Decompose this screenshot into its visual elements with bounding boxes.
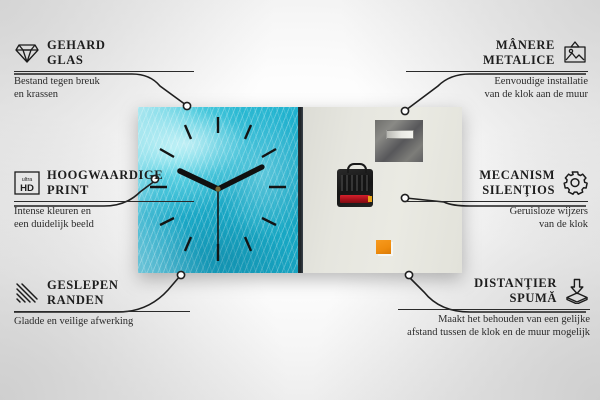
callout-rule [14,311,190,312]
callout-high-quality-print: ultra HD HOOGWAARDIGE PRINT Intense kleu… [14,168,194,231]
callout-description: Bestand tegen breuk en krassen [14,75,194,102]
callout-description: Gladde en veilige afwerking [14,315,190,328]
callout-tempered-glass: GEHARD GLAS Bestand tegen breuk en krass… [14,38,194,101]
callout-title: GEHARD GLAS [14,38,194,68]
callout-rule [406,201,588,202]
gear-icon [562,170,588,196]
callout-title: MÂNERE METALICE [406,38,588,68]
callout-title: DISTANŢIER SPUMĂ [398,276,590,306]
callout-title-text: MECANISM SILENŢIOS [479,168,555,198]
callout-title-text: GESLEPEN RANDEN [47,278,119,308]
callout-title: MECANISM SILENŢIOS [406,168,588,198]
battery [340,195,370,203]
callout-rule [398,309,590,310]
callout-foam-spacer: DISTANŢIER SPUMĂ Maakt het behouden van … [398,276,590,339]
callout-title: ultra HD HOOGWAARDIGE PRINT [14,168,194,198]
product-infographic: GEHARD GLAS Bestand tegen breuk en krass… [0,0,600,400]
callout-description: Intense kleuren en een duidelijk beeld [14,205,194,232]
callout-description: Eenvoudige installatie van de klok aan d… [406,75,588,102]
callout-description: Geruisloze wijzers van de klok [406,205,588,232]
metal-hanger-plate [375,120,423,162]
callout-title: GESLEPEN RANDEN [14,278,190,308]
callout-silent-mechanism: MECANISM SILENŢIOS Geruisloze wijzers va… [406,168,588,231]
callout-rule [14,201,194,202]
callout-metal-hangers: MÂNERE METALICE Eenvoudige installatie v… [406,38,588,101]
callout-title-text: MÂNERE METALICE [483,38,555,68]
hanger-slot [386,130,414,139]
diamond-icon [14,40,40,66]
press-down-layer-icon [564,278,590,304]
callout-beveled-edges: GESLEPEN RANDEN Gladde en veilige afwerk… [14,278,190,328]
callout-description: Maakt het behouden van een gelijke afsta… [398,313,590,340]
callout-title-text: GEHARD GLAS [47,38,105,68]
ultra-hd-icon: ultra HD [14,170,40,196]
callout-rule [406,71,588,72]
picture-frame-icon [562,40,588,66]
mechanism-vent [341,175,369,191]
foam-spacer [376,240,391,254]
silent-clock-mechanism [337,169,373,207]
callout-title-text: HOOGWAARDIGE PRINT [47,168,163,198]
beveled-edges-icon [14,280,40,306]
hanging-loop [347,163,367,173]
callout-rule [14,71,194,72]
svg-text:HD: HD [20,183,34,194]
callout-title-text: DISTANŢIER SPUMĂ [474,276,557,306]
